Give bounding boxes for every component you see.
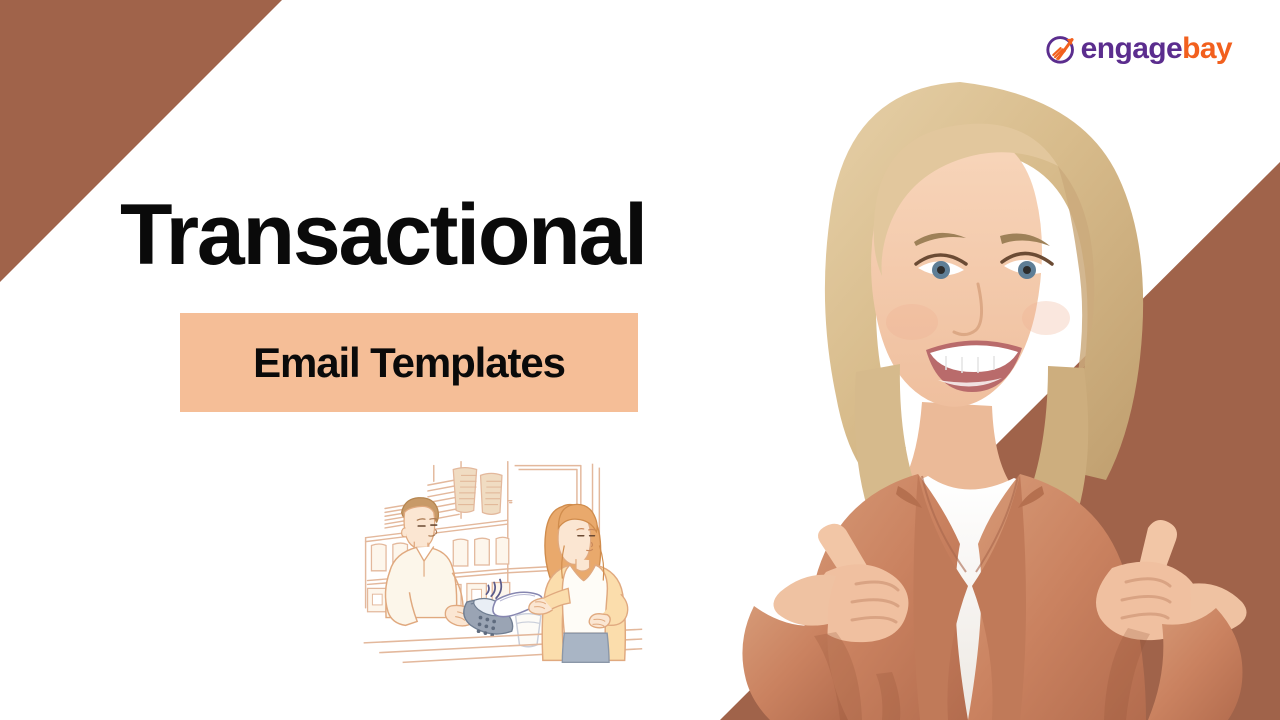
logo-word-engage: engage <box>1081 32 1182 65</box>
engagebay-logo[interactable]: engagebay <box>1044 32 1232 66</box>
subtitle-banner: Email Templates <box>180 313 638 412</box>
smiling-woman-photo <box>660 72 1280 720</box>
page-title: Transactional <box>120 192 646 280</box>
engagebay-wordmark: engagebay <box>1081 34 1232 64</box>
contactless-payment-illustration <box>344 452 656 676</box>
engagebay-circle-arrow-icon <box>1044 32 1078 66</box>
subtitle-text: Email Templates <box>253 339 565 387</box>
slide-canvas: engagebay Transactional Email Templates <box>0 0 1280 720</box>
logo-word-bay: bay <box>1182 32 1232 65</box>
